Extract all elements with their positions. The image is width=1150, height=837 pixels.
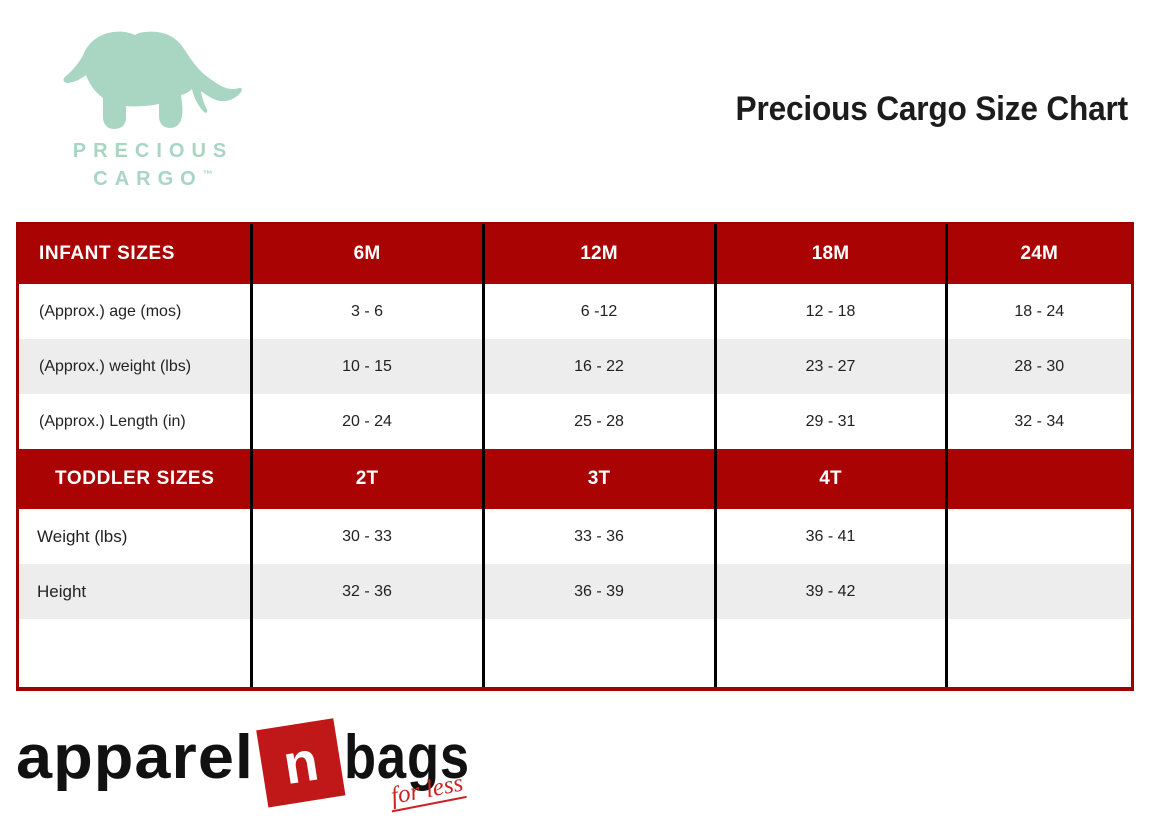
size-chart-table-container: INFANT SIZES 6M 12M 18M 24M (Approx.) ag… — [16, 222, 1134, 691]
cell-infant-age-6m: 3 - 6 — [251, 284, 483, 339]
toddler-size-3t: 3T — [483, 449, 715, 509]
toddler-size-empty — [946, 449, 1131, 509]
cell-infant-length-24m: 32 - 34 — [946, 394, 1131, 449]
toddler-size-4t: 4T — [715, 449, 946, 509]
infant-section-label: INFANT SIZES — [19, 224, 251, 284]
page-title: Precious Cargo Size Chart — [736, 90, 1128, 129]
cell-toddler-height-empty — [946, 564, 1131, 619]
row-label-infant-weight: (Approx.) weight (lbs) — [19, 339, 251, 394]
cell-blank-4t — [715, 619, 946, 687]
infant-size-18m: 18M — [715, 224, 946, 284]
cell-infant-weight-12m: 16 - 22 — [483, 339, 715, 394]
table-row: (Approx.) Length (in) 20 - 24 25 - 28 29… — [19, 394, 1131, 449]
row-label-toddler-height: Height — [19, 564, 251, 619]
row-label-blank — [19, 619, 251, 687]
cell-toddler-weight-2t: 30 - 33 — [251, 509, 483, 564]
size-chart-table: INFANT SIZES 6M 12M 18M 24M (Approx.) ag… — [19, 224, 1131, 687]
table-row: Height 32 - 36 36 - 39 39 - 42 — [19, 564, 1131, 619]
cell-toddler-weight-3t: 33 - 36 — [483, 509, 715, 564]
brand-wordmark: PRECIOUS CARGO™ — [36, 138, 266, 193]
cell-blank-3t — [483, 619, 715, 687]
infant-size-12m: 12M — [483, 224, 715, 284]
infant-size-24m: 24M — [946, 224, 1131, 284]
cell-toddler-height-3t: 36 - 39 — [483, 564, 715, 619]
brand-name-line2-text: CARGO — [93, 168, 202, 190]
row-label-infant-length: (Approx.) Length (in) — [19, 394, 251, 449]
cell-infant-weight-18m: 23 - 27 — [715, 339, 946, 394]
infant-size-6m: 6M — [251, 224, 483, 284]
size-chart-page: PRECIOUS CARGO™ Precious Cargo Size Char… — [0, 0, 1150, 837]
page-header: PRECIOUS CARGO™ Precious Cargo Size Char… — [0, 0, 1150, 218]
table-row: (Approx.) age (mos) 3 - 6 6 -12 12 - 18 … — [19, 284, 1131, 339]
table-row: Weight (lbs) 30 - 33 33 - 36 36 - 41 — [19, 509, 1131, 564]
cell-infant-weight-24m: 28 - 30 — [946, 339, 1131, 394]
infant-section-header-row: INFANT SIZES 6M 12M 18M 24M — [19, 224, 1131, 284]
row-label-infant-age: (Approx.) age (mos) — [19, 284, 251, 339]
toddler-section-label: TODDLER SIZES — [19, 449, 251, 509]
cell-blank-2t — [251, 619, 483, 687]
cell-blank-empty — [946, 619, 1131, 687]
brand-name-line1: PRECIOUS — [36, 138, 266, 166]
cell-infant-age-12m: 6 -12 — [483, 284, 715, 339]
cell-toddler-weight-4t: 36 - 41 — [715, 509, 946, 564]
logo-text-apparel: apparel — [16, 723, 254, 792]
cell-infant-length-12m: 25 - 28 — [483, 394, 715, 449]
precious-cargo-logo: PRECIOUS CARGO™ — [36, 24, 266, 193]
toddler-section-header-row: TODDLER SIZES 2T 3T 4T — [19, 449, 1131, 509]
cell-toddler-height-2t: 32 - 36 — [251, 564, 483, 619]
cell-infant-age-24m: 18 - 24 — [946, 284, 1131, 339]
cell-infant-length-18m: 29 - 31 — [715, 394, 946, 449]
cell-toddler-weight-empty — [946, 509, 1131, 564]
cell-infant-weight-6m: 10 - 15 — [251, 339, 483, 394]
cell-toddler-height-4t: 39 - 42 — [715, 564, 946, 619]
brand-name-line2: CARGO™ — [36, 166, 266, 194]
apparelnbags-logo: apparel n bags for less — [14, 706, 484, 824]
toddler-size-2t: 2T — [251, 449, 483, 509]
apparelnbags-logo-graphic: apparel n bags for less — [14, 706, 484, 824]
table-row: (Approx.) weight (lbs) 10 - 15 16 - 22 2… — [19, 339, 1131, 394]
row-label-toddler-weight: Weight (lbs) — [19, 509, 251, 564]
logo-n-badge: n — [256, 718, 345, 807]
elephant-icon — [51, 24, 251, 132]
table-row — [19, 619, 1131, 687]
trademark-symbol: ™ — [203, 169, 213, 180]
cell-infant-age-18m: 12 - 18 — [715, 284, 946, 339]
cell-infant-length-6m: 20 - 24 — [251, 394, 483, 449]
